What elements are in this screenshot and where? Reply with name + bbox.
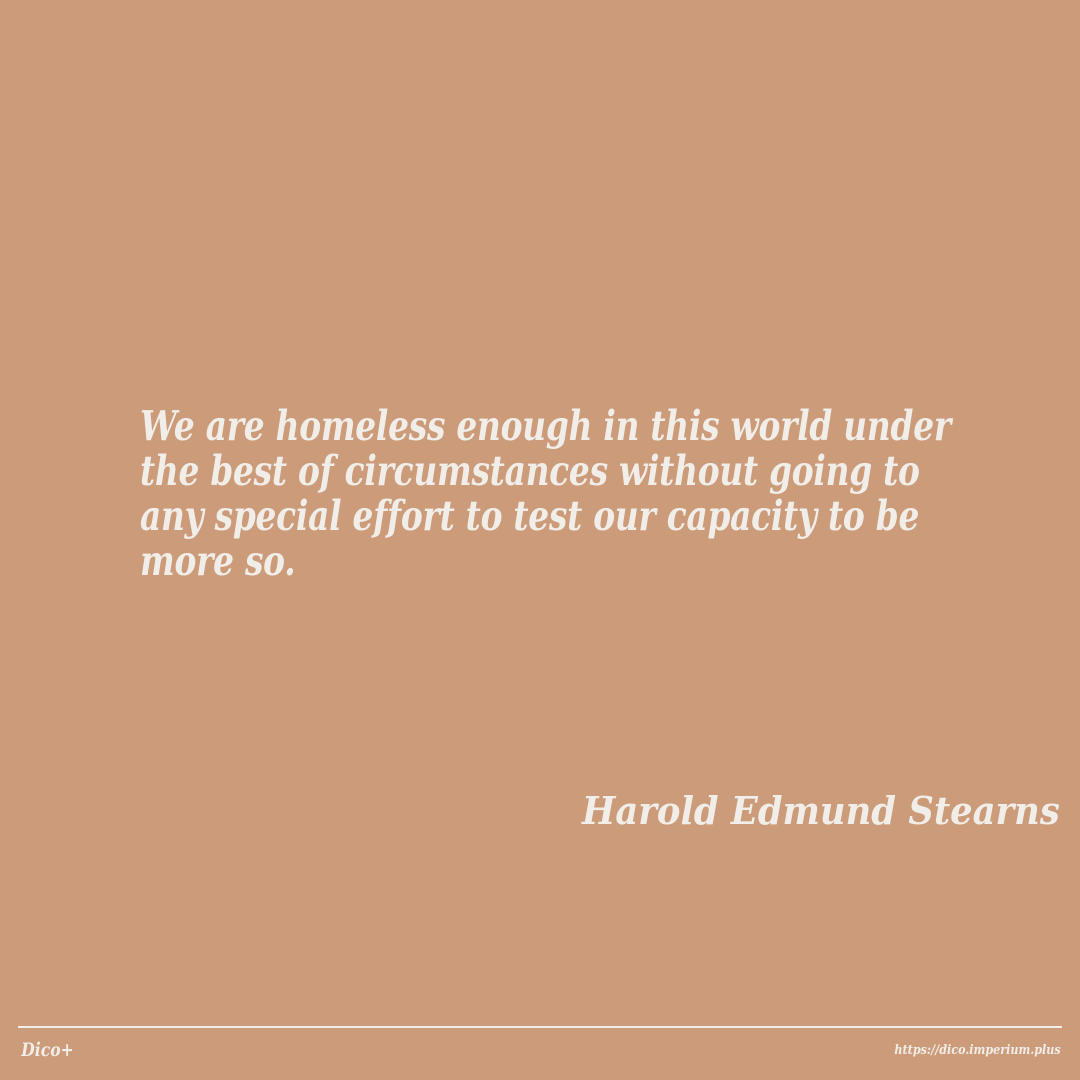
quote-block: We are homeless enough in this world und… — [140, 404, 970, 584]
author-block: Harold Edmund Stearns — [160, 788, 1060, 834]
footer-row: Dico+ https://dico.imperium.plus — [18, 1028, 1062, 1072]
quote-text: We are homeless enough in this world und… — [140, 404, 970, 584]
brand-logo: Dico+ — [18, 1041, 74, 1060]
site-url[interactable]: https://dico.imperium.plus — [894, 1044, 1062, 1057]
author-name: Harold Edmund Stearns — [582, 788, 1060, 834]
footer: Dico+ https://dico.imperium.plus — [18, 1026, 1062, 1072]
quote-card: We are homeless enough in this world und… — [0, 0, 1080, 1080]
